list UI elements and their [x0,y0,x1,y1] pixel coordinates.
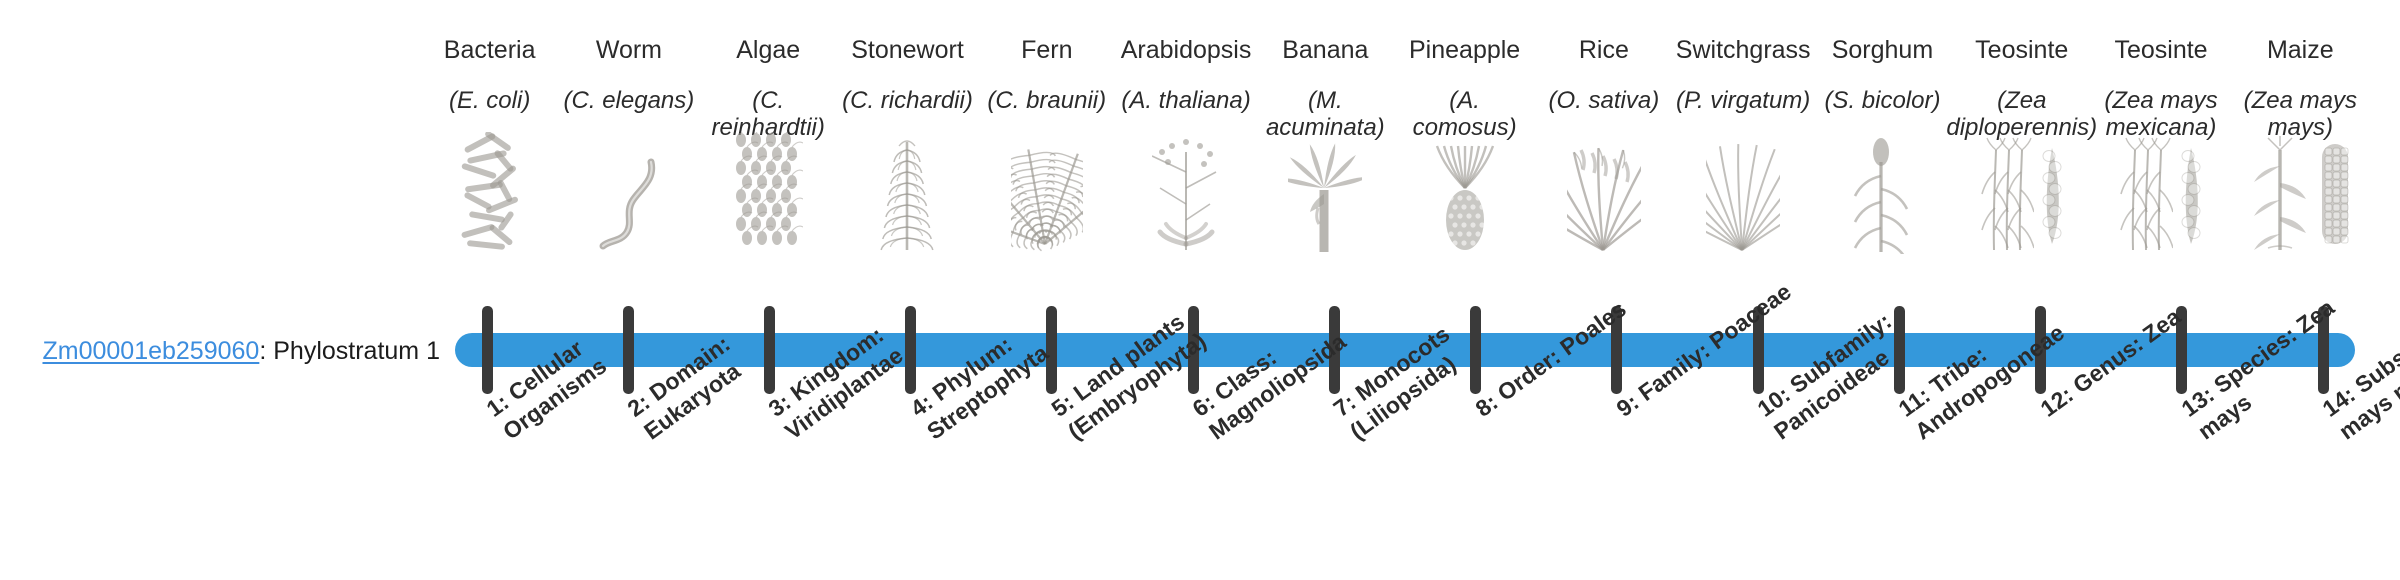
species-column: Teosinte(Zea mays mexicana) [2091,36,2230,254]
species-common-name: Pineapple [1409,36,1520,70]
species-common-name: Bacteria [444,36,536,70]
species-common-name: Algae [736,36,800,70]
sorghum-plant-icon [1813,154,1952,254]
species-common-name: Arabidopsis [1121,36,1252,70]
maize-plant-ear-icon [2231,154,2370,254]
species-common-name: Teosinte [2114,36,2207,70]
arabidopsis-rosette-icon [1116,154,1255,254]
phylostratum-label-group: 1: Cellular Organisms2: Domain: Eukaryot… [455,400,2355,580]
phylostratum-tick[interactable] [482,306,493,394]
gene-id-link[interactable]: Zm00001eb259060 [42,337,259,365]
phylostratum-value: Phylostratum 1 [273,337,440,365]
banana-palm-icon [1256,154,1395,254]
species-common-name: Fern [1021,36,1072,70]
gene-label-separator: : [259,337,273,365]
species-column: Switchgrass(P. virgatum) [1674,36,1813,254]
gene-phylostratum-label: Zm00001eb259060: Phylostratum 1 [40,338,440,366]
fern-frond-icon [977,154,1116,254]
species-column: Stonewort(C. richardii) [838,36,977,254]
species-common-name: Switchgrass [1676,36,1811,70]
pineapple-icon [1395,154,1534,254]
species-common-name: Stonewort [851,36,964,70]
species-column: Pineapple(A. comosus) [1395,36,1534,254]
species-column: Bacteria(E. coli) [420,36,559,254]
species-column: Worm(C. elegans) [559,36,698,254]
phylostratigraphy-figure: Zm00001eb259060: Phylostratum 1 Bacteria… [0,0,2400,580]
rice-plant-icon [1534,154,1673,254]
species-common-name: Teosinte [1975,36,2068,70]
species-column: Fern(C. braunii) [977,36,1116,254]
species-column: Teosinte(Zea diploperennis) [1952,36,2091,254]
species-column: Rice(O. sativa) [1534,36,1673,254]
species-common-name: Rice [1579,36,1629,70]
species-column: Banana(M. acuminata) [1256,36,1395,254]
species-common-name: Maize [2267,36,2334,70]
species-column: Arabidopsis(A. thaliana) [1116,36,1255,254]
switchgrass-icon [1674,154,1813,254]
stonewort-whorl-icon [838,154,977,254]
species-scientific-name: (C. elegans) [563,88,696,150]
bacteria-rods-icon [420,154,559,254]
teosinte-mexicana-ear-icon [2091,154,2230,254]
species-column: Sorghum(S. bicolor) [1813,36,1952,254]
nematode-worm-icon [559,154,698,254]
species-common-name: Sorghum [1832,36,1933,70]
teosinte-plant-ear-icon [1952,154,2091,254]
species-column: Maize(Zea mays mays) [2231,36,2370,254]
species-column: Algae(C. reinhardtii) [699,36,838,254]
species-common-name: Banana [1282,36,1368,70]
algae-cells-icon [699,154,838,254]
species-common-name: Worm [596,36,662,70]
